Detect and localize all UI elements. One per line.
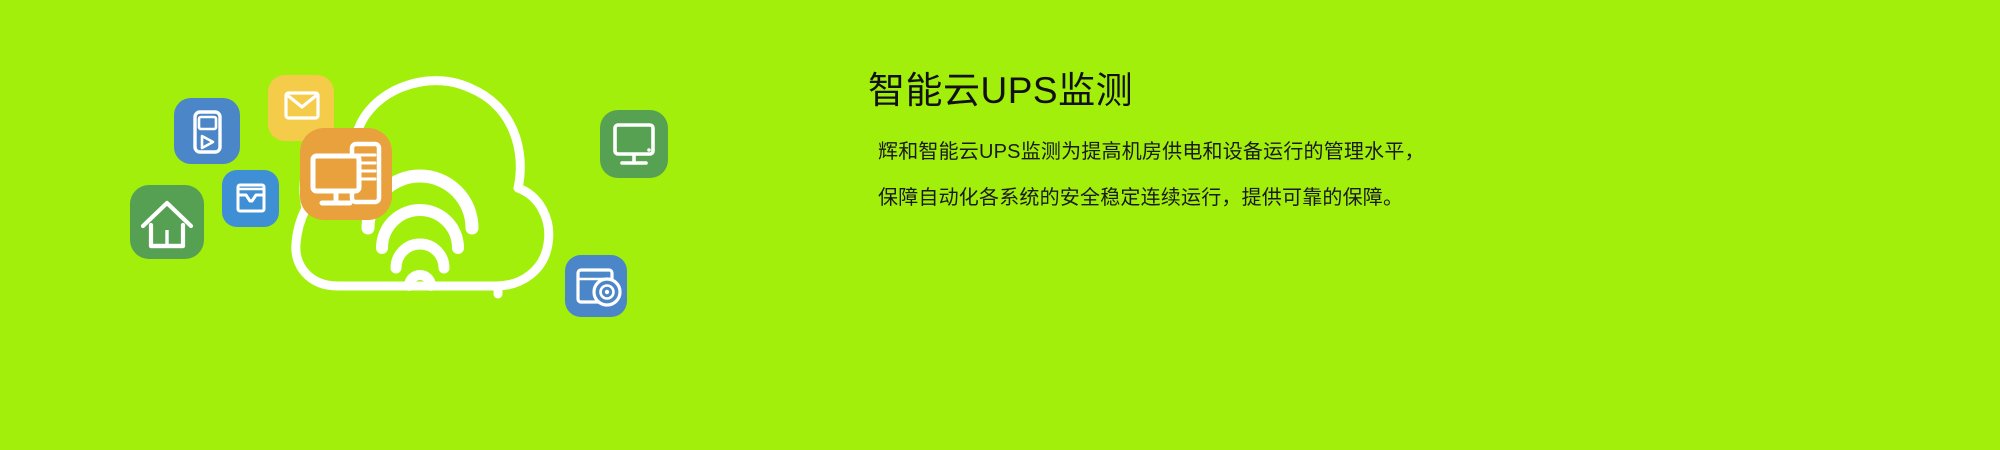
description-block: 辉和智能云UPS监测为提高机房供电和设备运行的管理水平， 保障自动化各系统的安全… bbox=[868, 142, 1568, 208]
media-player-icon bbox=[174, 98, 240, 164]
home-house-icon bbox=[130, 185, 204, 259]
description-line-2: 保障自动化各系统的安全稳定连续运行，提供可靠的保障。 bbox=[878, 188, 1568, 208]
camera-disc-icon bbox=[565, 255, 627, 317]
description-line-1: 辉和智能云UPS监测为提高机房供电和设备运行的管理水平， bbox=[878, 142, 1568, 162]
page-title: 智能云UPS监测 bbox=[868, 68, 1568, 114]
promo-banner: 智能云UPS监测 辉和智能云UPS监测为提高机房供电和设备运行的管理水平， 保障… bbox=[0, 0, 2000, 450]
monitor-tv-icon bbox=[600, 110, 668, 178]
banner-copy: 智能云UPS监测 辉和智能云UPS监测为提高机房供电和设备运行的管理水平， 保障… bbox=[868, 68, 1568, 208]
cloud-illustration bbox=[110, 40, 730, 320]
desktop-server-icon bbox=[300, 128, 392, 220]
inbox-tray-icon bbox=[222, 170, 279, 227]
